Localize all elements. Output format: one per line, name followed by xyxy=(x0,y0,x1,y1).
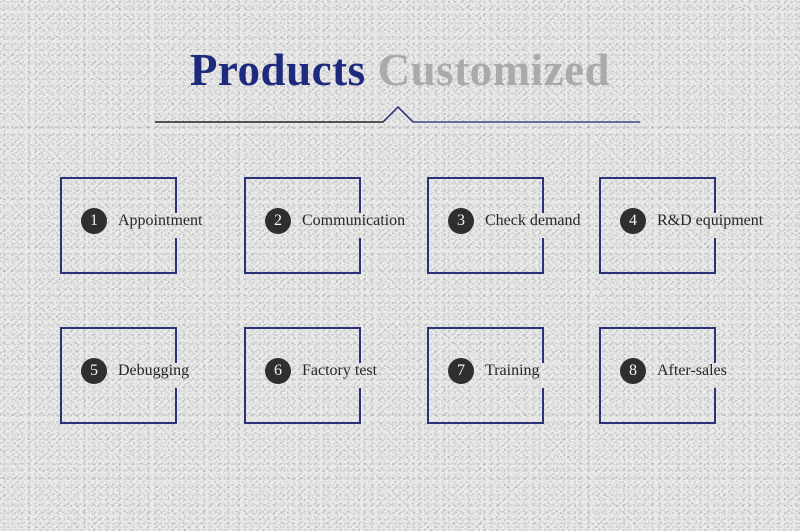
step-content: 5 Debugging xyxy=(81,358,189,384)
step-label: Training xyxy=(485,361,540,381)
step-number-badge: 8 xyxy=(620,358,646,384)
divider-peak-icon xyxy=(155,100,640,128)
step-number-badge: 6 xyxy=(265,358,291,384)
step-number-badge: 3 xyxy=(448,208,474,234)
step-content: 4 R&D equipment xyxy=(620,208,763,234)
header: ProductsCustomized xyxy=(0,44,800,96)
step-number-badge: 7 xyxy=(448,358,474,384)
step-content: 8 After-sales xyxy=(620,358,727,384)
step-item-3[interactable]: 3 Check demand xyxy=(427,177,542,274)
step-item-5[interactable]: 5 Debugging xyxy=(60,327,175,424)
step-label: Factory test xyxy=(302,361,377,381)
header-divider xyxy=(155,100,640,128)
step-label: Communication xyxy=(302,211,405,231)
page-title-secondary: Customized xyxy=(378,45,610,95)
step-label: Appointment xyxy=(118,211,202,231)
step-row-2: 5 Debugging 6 Factory test 7 Training 8 … xyxy=(0,327,800,427)
step-number-badge: 1 xyxy=(81,208,107,234)
step-content: 7 Training xyxy=(448,358,540,384)
page-title-primary: Products xyxy=(190,45,366,95)
page-title: ProductsCustomized xyxy=(0,44,800,96)
step-item-2[interactable]: 2 Communication xyxy=(244,177,359,274)
step-number-badge: 2 xyxy=(265,208,291,234)
step-label: R&D equipment xyxy=(657,211,763,231)
step-item-8[interactable]: 8 After-sales xyxy=(599,327,714,424)
step-item-6[interactable]: 6 Factory test xyxy=(244,327,359,424)
step-number-badge: 5 xyxy=(81,358,107,384)
step-item-4[interactable]: 4 R&D equipment xyxy=(599,177,714,274)
step-item-7[interactable]: 7 Training xyxy=(427,327,542,424)
step-label: Check demand xyxy=(485,211,581,231)
step-content: 3 Check demand xyxy=(448,208,581,234)
step-item-1[interactable]: 1 Appointment xyxy=(60,177,175,274)
step-row-1: 1 Appointment 2 Communication 3 Check de… xyxy=(0,177,800,277)
step-content: 2 Communication xyxy=(265,208,405,234)
page-root: ProductsCustomized 1 Appointment 2 Commu… xyxy=(0,0,800,531)
step-label: After-sales xyxy=(657,361,727,381)
step-content: 6 Factory test xyxy=(265,358,377,384)
step-label: Debugging xyxy=(118,361,189,381)
step-content: 1 Appointment xyxy=(81,208,202,234)
step-number-badge: 4 xyxy=(620,208,646,234)
